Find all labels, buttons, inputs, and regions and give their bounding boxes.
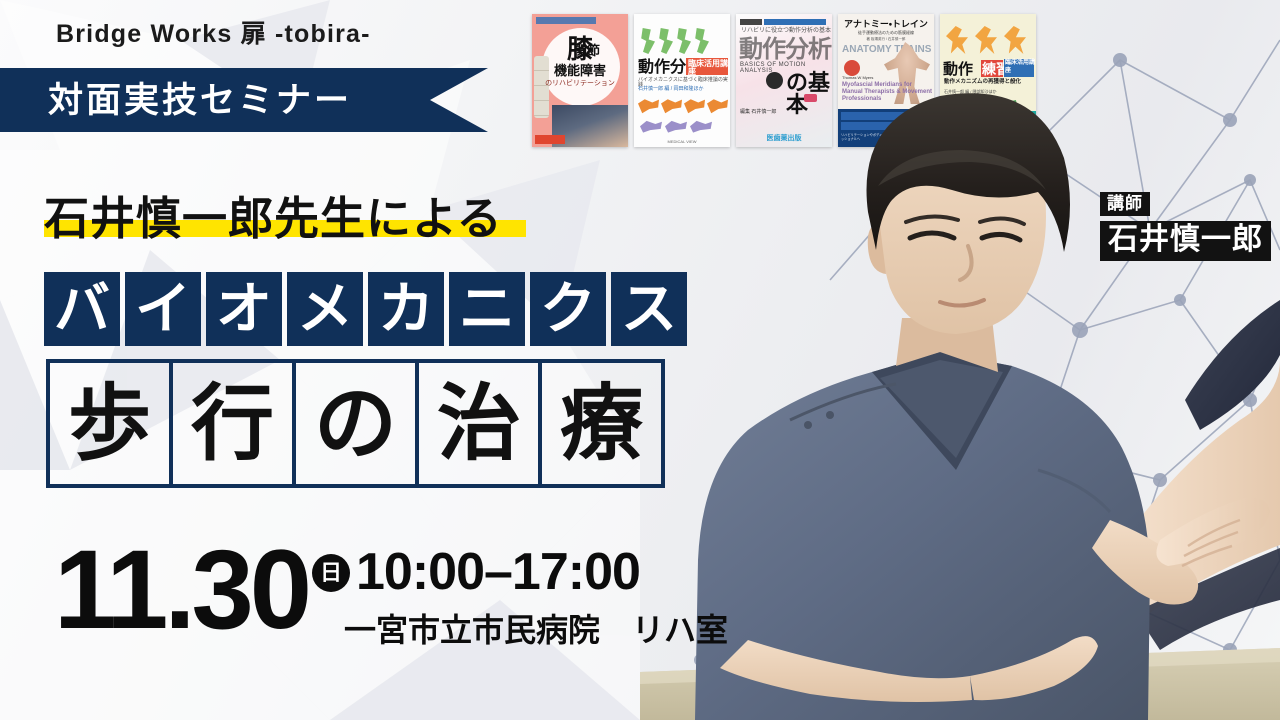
kanji-cell: 療 [538, 359, 665, 488]
therapist-photo [640, 0, 1280, 720]
seminar-type-ribbon: 対面実技セミナー [0, 68, 488, 132]
book1-title-sub: 関節 [574, 44, 624, 57]
title-katakana-row: バ イ オ メ カ ニ ク ス [44, 272, 687, 346]
katakana-cell: カ [368, 272, 444, 346]
brand-title: Bridge Works 扉 -tobira- [56, 14, 371, 50]
ribbon-label: 対面実技セミナー [48, 83, 352, 118]
event-date-number: 11.30 [54, 527, 308, 652]
lecturer-role-chip: 講師 [1100, 192, 1150, 216]
kanji-cell: 行 [169, 359, 296, 488]
katakana-cell: ス [611, 272, 687, 346]
title-lead-line: 石井慎一郎先生による [44, 196, 503, 241]
event-date: 11.30 [54, 534, 308, 646]
book1-header-bar [536, 17, 596, 24]
book-cover-knee-rehab: 膝 関節 機能障害 のリハビリテーション [532, 14, 628, 147]
kanji-cell: 歩 [46, 359, 173, 488]
weekday-badge: 日 [312, 554, 350, 592]
title-lead-text: 石井慎一郎先生による [44, 193, 503, 244]
poster-canvas: Bridge Works 扉 -tobira- 対面実技セミナー 膝 関節 機能… [0, 0, 1280, 720]
katakana-cell: ク [530, 272, 606, 346]
title-kanji-row: 歩 行 の 治 療 [46, 359, 665, 488]
kanji-cell: 治 [415, 359, 542, 488]
kanji-cell: の [292, 359, 419, 488]
book1-subtitle: のリハビリテーション [532, 80, 628, 87]
katakana-cell: イ [125, 272, 201, 346]
lecturer-name-chip: 石井慎一郎 [1100, 221, 1271, 261]
event-venue: 一宮市立市民病院 リハ室 [344, 614, 728, 646]
event-time: 10:00–17:00 [356, 546, 640, 598]
book1-title-line2: 機能障害 [532, 64, 628, 77]
book1-footer-tag [535, 135, 565, 144]
katakana-cell: バ [44, 272, 120, 346]
lecturer-block: 講師 石井慎一郎 [1100, 192, 1271, 261]
katakana-cell: メ [287, 272, 363, 346]
katakana-cell: オ [206, 272, 282, 346]
katakana-cell: ニ [449, 272, 525, 346]
